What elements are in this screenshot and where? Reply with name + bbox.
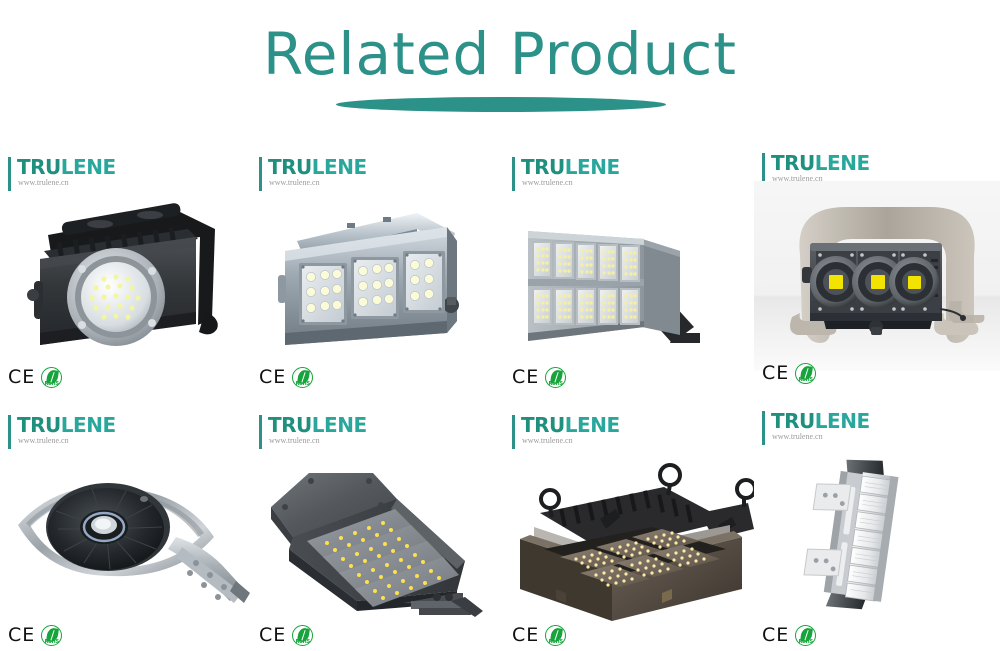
ce-mark-label: CE <box>259 368 286 387</box>
rohs-icon: RoHS <box>545 367 566 388</box>
brand-name-part1: TRU <box>17 413 61 437</box>
brand-name-part1: TRU <box>268 413 312 437</box>
rohs-icon: RoHS <box>292 367 313 388</box>
brand-name-part1: TRU <box>771 151 815 175</box>
brand-name-part1: TRU <box>771 409 815 433</box>
brand-url: www.trulene.cn <box>521 178 620 188</box>
brand-name-part1: TRU <box>521 155 565 179</box>
rohs-label: RoHS <box>293 381 312 387</box>
title-underline-ellipse <box>336 97 666 112</box>
brand-logo: TRULENE www.trulene.cn <box>512 157 620 191</box>
certification-marks: CE RoHS <box>512 367 566 388</box>
brand-url: www.trulene.cn <box>521 436 620 446</box>
brand-logo: TRULENE www.trulene.cn <box>259 415 367 449</box>
brand-name-part2: LENE <box>61 413 116 437</box>
street-light-four-module-icon <box>251 451 501 623</box>
ce-mark-label: CE <box>512 368 539 387</box>
certification-marks: CE RoHS <box>762 363 816 384</box>
product-cell-linear-tunnel-light[interactable]: TRULENE www.trulene.cn <box>754 393 1000 651</box>
brand-name-part2: LENE <box>565 413 620 437</box>
brand-url: www.trulene.cn <box>268 436 367 446</box>
product-cell-eye-shaped-street-light[interactable]: TRULENE www.trulene.cn <box>0 393 250 651</box>
brand-name-part2: LENE <box>815 409 870 433</box>
rohs-icon: RoHS <box>545 625 566 646</box>
product-cell-silver-modular-flood-light[interactable]: TRULENE www.trulene.cn <box>251 135 501 393</box>
product-cell-grey-tunnel-flood-light[interactable]: TRULENE www.trulene.cn <box>504 135 754 393</box>
portable-work-light-icon <box>754 193 1000 365</box>
brand-name: TRULENE <box>17 157 116 178</box>
rohs-label: RoHS <box>546 381 565 387</box>
certification-marks: CE RoHS <box>259 367 313 388</box>
brand-logo: TRULENE www.trulene.cn <box>8 157 116 191</box>
brand-url: www.trulene.cn <box>17 436 116 446</box>
ce-mark-label: CE <box>762 626 789 645</box>
brand-name-part2: LENE <box>312 413 367 437</box>
product-cell-portable-cob-work-light[interactable]: TRULENE www.trulene.cn <box>754 135 1000 393</box>
product-cell-recessed-high-bay-light[interactable]: TRULENE www.trulene.cn <box>504 393 754 651</box>
product-cell-black-square-flood-light[interactable]: TRULENE www.trulene.cn <box>0 135 250 393</box>
brand-logo: TRULENE www.trulene.cn <box>512 415 620 449</box>
brand-name-part1: TRU <box>521 413 565 437</box>
brand-name-part2: LENE <box>312 155 367 179</box>
page-header: Related Product <box>0 0 1000 135</box>
related-product-page: Related Product TRULENE www.trulene.cn <box>0 0 1000 651</box>
rohs-label: RoHS <box>546 639 565 645</box>
ce-mark-label: CE <box>8 368 35 387</box>
brand-name-part2: LENE <box>815 151 870 175</box>
rohs-icon: RoHS <box>795 625 816 646</box>
certification-marks: CE RoHS <box>259 625 313 646</box>
brand-url: www.trulene.cn <box>17 178 116 188</box>
brand-name: TRULENE <box>268 157 367 178</box>
rohs-icon: RoHS <box>292 625 313 646</box>
ce-mark-label: CE <box>259 626 286 645</box>
recessed-ceiling-light-icon <box>504 451 754 623</box>
ce-mark-label: CE <box>512 626 539 645</box>
linear-tunnel-light-icon <box>754 451 1000 623</box>
brand-name-part2: LENE <box>61 155 116 179</box>
ce-mark-label: CE <box>762 364 789 383</box>
brand-name: TRULENE <box>771 411 870 432</box>
page-title: Related Product <box>0 22 1000 86</box>
brand-name: TRULENE <box>268 415 367 436</box>
rohs-icon: RoHS <box>41 367 62 388</box>
certification-marks: CE RoHS <box>8 367 62 388</box>
street-light-eye-shape-icon <box>0 451 250 623</box>
brand-name: TRULENE <box>521 157 620 178</box>
tunnel-light-ten-module-icon <box>504 193 754 365</box>
rohs-label: RoHS <box>42 639 61 645</box>
certification-marks: CE RoHS <box>512 625 566 646</box>
rohs-label: RoHS <box>293 639 312 645</box>
brand-name: TRULENE <box>771 153 870 174</box>
rohs-icon: RoHS <box>41 625 62 646</box>
flood-light-three-module-icon <box>251 193 501 365</box>
brand-name-part2: LENE <box>565 155 620 179</box>
ce-mark-label: CE <box>8 626 35 645</box>
rohs-icon: RoHS <box>795 363 816 384</box>
brand-logo: TRULENE www.trulene.cn <box>259 157 367 191</box>
brand-name-part1: TRU <box>268 155 312 179</box>
brand-logo: TRULENE www.trulene.cn <box>762 411 870 445</box>
brand-url: www.trulene.cn <box>268 178 367 188</box>
rohs-label: RoHS <box>42 381 61 387</box>
brand-logo: TRULENE www.trulene.cn <box>8 415 116 449</box>
brand-name-part1: TRU <box>17 155 61 179</box>
rohs-label: RoHS <box>796 377 815 383</box>
certification-marks: CE RoHS <box>762 625 816 646</box>
certification-marks: CE RoHS <box>8 625 62 646</box>
brand-name: TRULENE <box>17 415 116 436</box>
product-grid: TRULENE www.trulene.cn <box>0 135 1000 651</box>
brand-url: www.trulene.cn <box>771 432 870 442</box>
rohs-label: RoHS <box>796 639 815 645</box>
flood-light-round-lens-icon <box>0 193 250 365</box>
brand-name: TRULENE <box>521 415 620 436</box>
product-cell-dark-grey-street-light[interactable]: TRULENE www.trulene.cn <box>251 393 501 651</box>
